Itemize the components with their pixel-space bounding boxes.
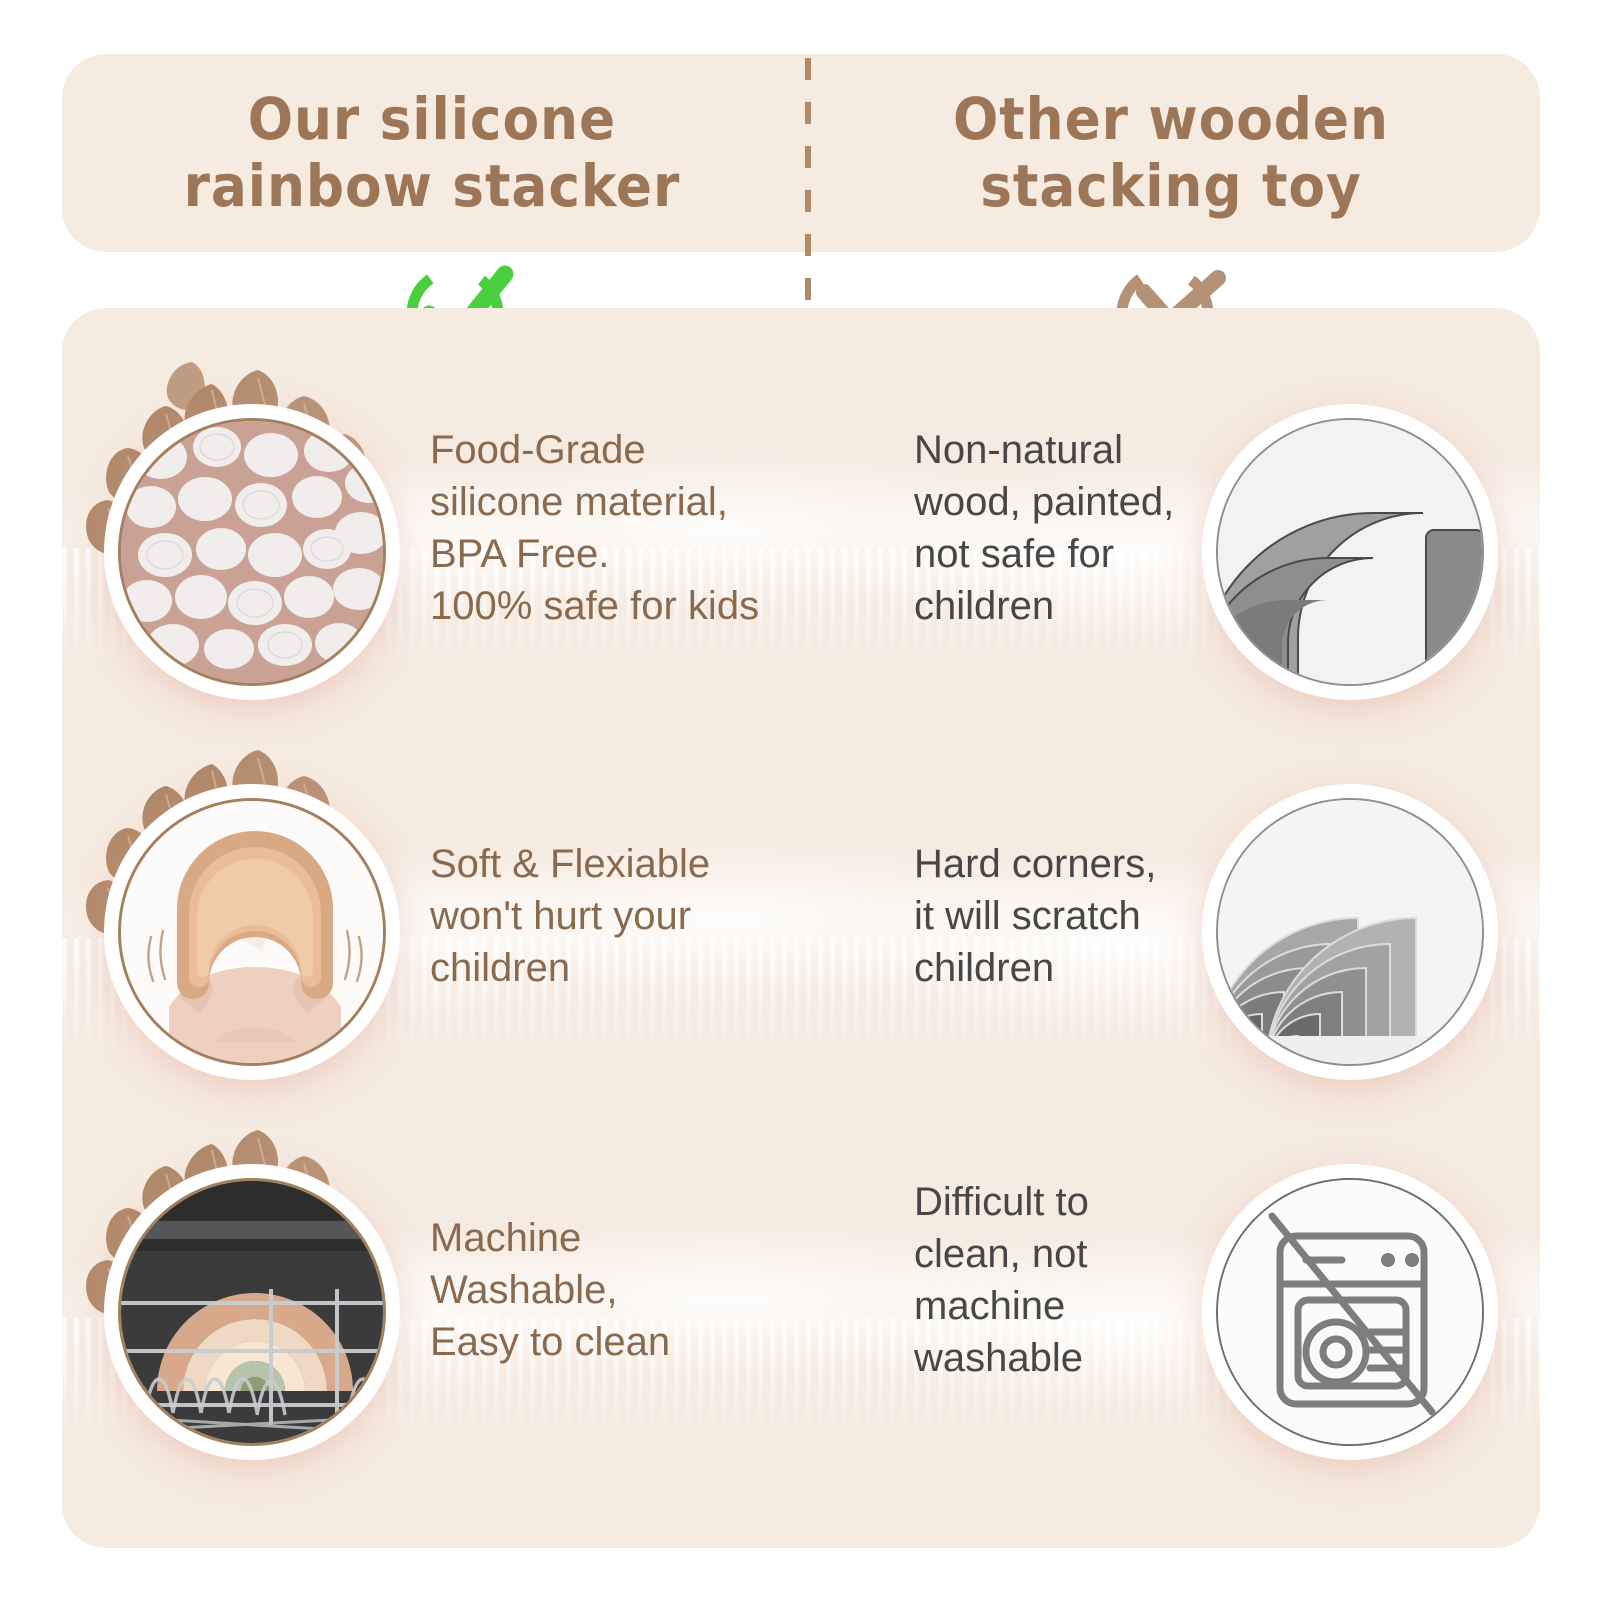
left-feature-text: Soft & Flexiable won't hurt your childre…	[430, 838, 770, 994]
header-column-left: Our silicone rainbow stacker	[62, 54, 802, 252]
body-panel: Food-Grade silicone material, BPA Free. …	[62, 308, 1540, 1548]
comparison-row: Soft & Flexiable won't hurt your childre…	[62, 740, 1540, 1130]
left-feature-text: Food-Grade silicone material, BPA Free. …	[430, 424, 770, 632]
gray-wooden-arch-closeup-photo	[1202, 404, 1498, 700]
silicone-pellets-image	[118, 418, 386, 686]
header-panel: Our silicone rainbow stacker Other woode…	[62, 54, 1540, 252]
gray-wooden-stacker-photo	[1202, 784, 1498, 1080]
right-product-title: Other wooden stacking toy	[953, 86, 1389, 221]
gray-wooden-stacker-image	[1216, 798, 1484, 1066]
hand-flexing-arch-image	[118, 798, 386, 1066]
no-dishwasher-glyph	[1216, 1178, 1484, 1446]
left-product-title: Our silicone rainbow stacker	[184, 86, 681, 221]
gray-wooden-arch-image	[1216, 418, 1484, 686]
no-dishwasher-icon	[1202, 1164, 1498, 1460]
left-feature-text: Machine Washable, Easy to clean	[430, 1212, 770, 1368]
hand-flexing-silicone-arch-photo	[104, 784, 400, 1080]
right-feature-text: Difficult to clean, not machine washable	[914, 1176, 1214, 1384]
comparison-infographic: Our silicone rainbow stacker Other woode…	[0, 0, 1600, 1600]
right-feature-text: Hard corners, it will scratch children	[914, 838, 1214, 994]
right-feature-text: Non-natural wood, painted, not safe for …	[914, 424, 1214, 632]
comparison-row: Machine Washable, Easy to clean Difficul…	[62, 1120, 1540, 1510]
header-column-right: Other wooden stacking toy	[802, 54, 1540, 252]
dishwasher-image	[118, 1178, 386, 1446]
silicone-pellets-photo	[104, 404, 400, 700]
comparison-row: Food-Grade silicone material, BPA Free. …	[62, 360, 1540, 750]
rainbow-stacker-in-dishwasher-photo	[104, 1164, 400, 1460]
